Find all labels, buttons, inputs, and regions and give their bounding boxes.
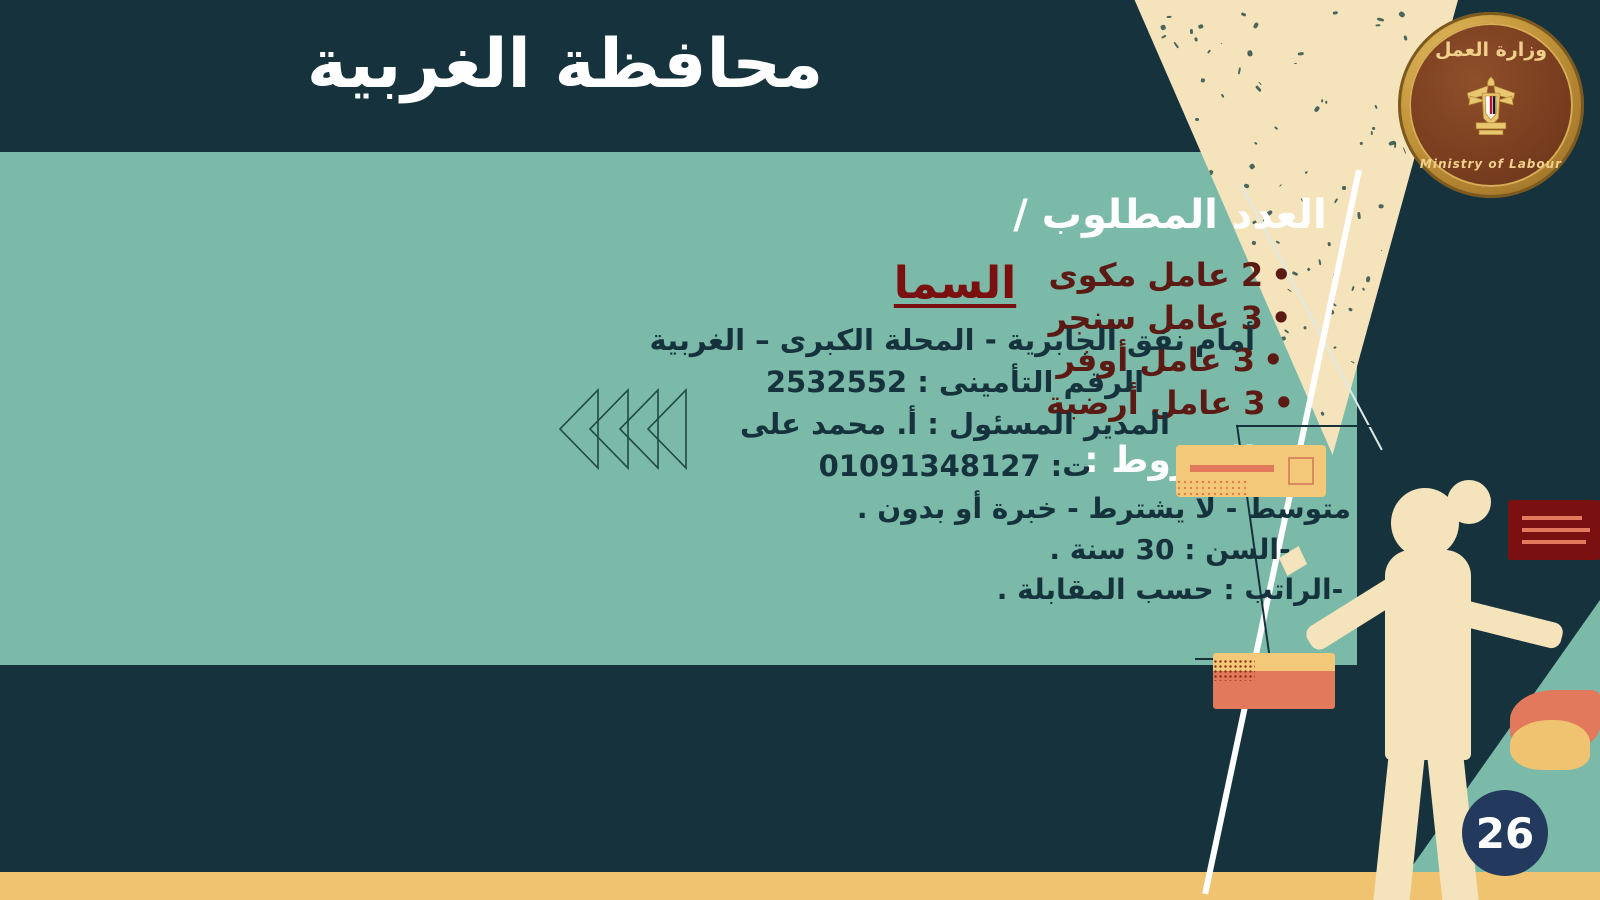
texture-speck <box>1174 42 1179 48</box>
texture-speck <box>1194 37 1198 42</box>
seal-english-text: Ministry of Labour <box>1409 157 1573 171</box>
texture-speck <box>1255 85 1262 92</box>
texture-speck <box>1325 101 1327 104</box>
bullet-icon: • <box>1271 297 1291 340</box>
texture-speck <box>1161 35 1166 39</box>
figure-head <box>1391 488 1459 558</box>
texture-speck <box>1376 24 1381 26</box>
texture-speck <box>1238 67 1241 74</box>
slide-root: محافظة الغربية وزارة العمل <box>0 0 1600 900</box>
company-details-list: أمام نفق الجابرية - المحلة الكبرى – الغر… <box>655 319 1255 487</box>
texture-speck <box>1322 99 1324 102</box>
texture-speck <box>1253 22 1260 29</box>
page-title: محافظة الغربية <box>0 28 1130 103</box>
frame-line-top <box>1236 425 1406 427</box>
gold-card-square <box>1288 457 1314 485</box>
texture-speck <box>1221 43 1223 45</box>
texture-speck <box>1305 170 1309 174</box>
texture-speck <box>1190 29 1193 34</box>
required-heading: العدد المطلوب / <box>900 190 1440 240</box>
seal-arabic-text: وزارة العمل <box>1409 39 1573 61</box>
texture-speck <box>1371 131 1373 135</box>
texture-speck <box>1258 82 1262 86</box>
eagle-of-saladin-icon <box>1454 71 1528 145</box>
gold-card-decor <box>1176 445 1326 497</box>
texture-speck <box>1254 142 1257 145</box>
company-name: السما <box>655 258 1255 309</box>
figure-left-leg <box>1373 753 1424 900</box>
texture-speck <box>1241 12 1247 17</box>
company-detail-line: الرقم التأمينى : 2532552 <box>655 361 1255 403</box>
gold-card-line <box>1190 465 1274 472</box>
texture-speck <box>1221 94 1224 98</box>
gold-card-texture <box>1176 479 1248 497</box>
company-detail-line: ت: 01091348127 <box>655 445 1255 487</box>
texture-speck <box>1360 142 1363 145</box>
texture-speck <box>1374 105 1377 110</box>
texture-speck <box>1298 52 1304 56</box>
ministry-of-labour-seal-icon: وزارة العمل Ministry of Labour <box>1398 12 1584 198</box>
coral-card-decor <box>1213 653 1335 709</box>
texture-speck <box>1377 17 1384 21</box>
bullet-icon: • <box>1263 339 1283 382</box>
bullet-icon: • <box>1271 254 1291 297</box>
page-number-badge: 26 <box>1462 790 1548 876</box>
company-detail-line: المدير المسئول : أ. محمد على <box>655 403 1255 445</box>
company-detail-line: أمام نفق الجابرية - المحلة الكبرى – الغر… <box>655 319 1255 361</box>
texture-speck <box>1207 50 1211 54</box>
texture-speck <box>1279 184 1282 187</box>
texture-speck <box>1195 118 1200 122</box>
texture-speck <box>1274 126 1279 130</box>
texture-speck <box>1372 127 1375 131</box>
texture-speck <box>1333 11 1338 15</box>
texture-speck <box>1294 63 1297 65</box>
texture-speck <box>1198 24 1204 29</box>
coral-card-texture <box>1213 659 1255 681</box>
figure-body <box>1385 550 1471 760</box>
bullet-icon: • <box>1274 382 1294 425</box>
texture-speck <box>1161 24 1167 30</box>
company-section: السما أمام نفق الجابرية - المحلة الكبرى … <box>655 258 1255 487</box>
texture-speck <box>1200 78 1205 83</box>
texture-speck <box>1167 16 1172 18</box>
texture-speck <box>1314 105 1321 112</box>
texture-speck <box>1247 50 1253 57</box>
seal-inner-disc: وزارة العمل Ministry of Labour <box>1409 23 1573 187</box>
texture-speck <box>1249 163 1256 170</box>
